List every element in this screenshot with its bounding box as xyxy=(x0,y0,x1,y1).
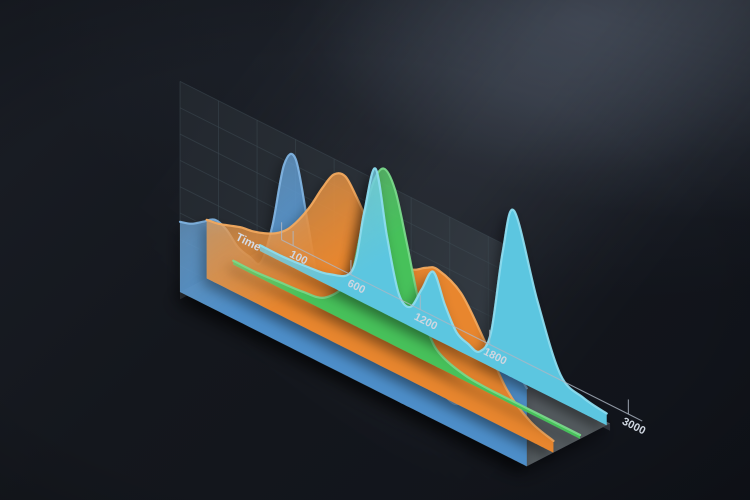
chart-canvas: Time100600120018003000 xyxy=(0,0,750,500)
ridgeline-3d-plot: Time100600120018003000 xyxy=(0,0,750,500)
axis-tick-label: 3000 xyxy=(620,416,647,438)
